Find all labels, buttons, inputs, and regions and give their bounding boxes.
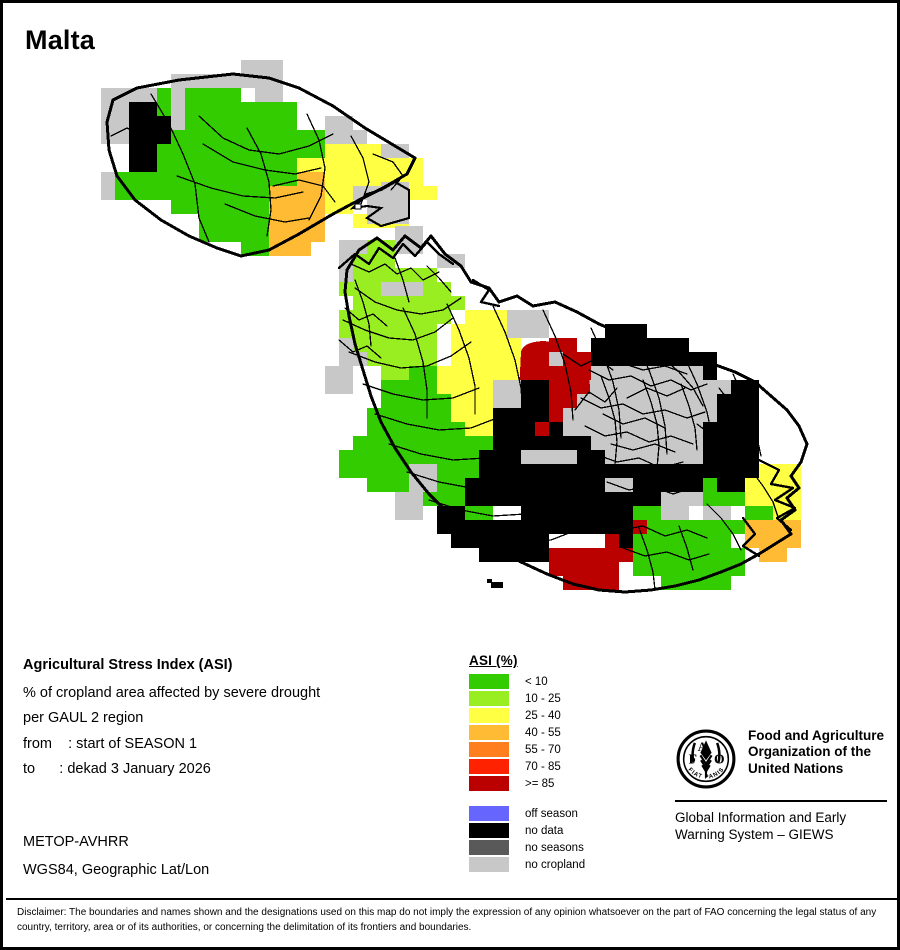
legend-label: 40 - 55: [525, 727, 561, 739]
legend-item-no-seasons[interactable]: no seasons: [469, 839, 585, 856]
legend-swatch: [469, 776, 509, 791]
map-description: Agricultural Stress Index (ASI) % of cro…: [23, 658, 320, 788]
legend-swatch: [469, 674, 509, 689]
data-source-block: METOP-AVHRR WGS84, Geographic Lat/Lon: [23, 835, 209, 890]
sensor-label: METOP-AVHRR: [23, 835, 209, 850]
legend-label: >= 85: [525, 778, 554, 790]
legend-item-10-25[interactable]: 10 - 25: [469, 690, 585, 707]
page-title: Malta: [25, 25, 95, 56]
legend-swatch: [469, 742, 509, 757]
disclaimer-divider: [6, 898, 900, 900]
legend-swatch: [469, 806, 509, 821]
fao-organization-name: Food and Agriculture Organization of the…: [748, 728, 884, 777]
legend-label: no data: [525, 825, 563, 837]
legend-swatch: [469, 857, 509, 872]
legend-item-no-cropland[interactable]: no cropland: [469, 856, 585, 873]
legend-label: 10 - 25: [525, 693, 561, 705]
legend-item-no-data[interactable]: no data: [469, 822, 585, 839]
fao-name-line2: Organization of the: [748, 744, 884, 760]
asi-choropleth-map[interactable]: [3, 58, 897, 638]
legend-item-off-season[interactable]: off season: [469, 805, 585, 822]
asi-heading: Agricultural Stress Index (ASI): [23, 658, 320, 673]
fao-logo-icon: F A O FIAT PANIS: [675, 728, 737, 790]
legend-item-gte85[interactable]: >= 85: [469, 775, 585, 792]
period-from: from : start of SEASON 1: [23, 737, 320, 752]
svg-text:O: O: [714, 751, 725, 766]
legend-item-70-85[interactable]: 70 - 85: [469, 758, 585, 775]
projection-label: WGS84, Geographic Lat/Lon: [23, 863, 209, 878]
legend-swatch: [469, 840, 509, 855]
legend-item-40-55[interactable]: 40 - 55: [469, 724, 585, 741]
legend-label: 55 - 70: [525, 744, 561, 756]
period-to: to : dekad 3 January 2026: [23, 762, 320, 777]
legend-swatch: [469, 759, 509, 774]
fao-branding: F A O FIAT PANIS Food and Agriculture Or…: [675, 728, 887, 844]
legend-swatch: [469, 823, 509, 838]
legend-title: ASI (%): [469, 653, 585, 668]
giews-line2: Warning System – GIEWS: [675, 827, 887, 844]
legend-item-25-40[interactable]: 25 - 40: [469, 707, 585, 724]
legend-swatch: [469, 708, 509, 723]
giews-line1: Global Information and Early: [675, 810, 887, 827]
map-legend: ASI (%) < 10 10 - 25 25 - 40 40 - 55 55 …: [469, 653, 585, 873]
disclaimer-text: Disclaimer: The boundaries and names sho…: [17, 906, 889, 935]
fao-divider: [675, 800, 887, 802]
svg-text:F: F: [689, 751, 697, 766]
legend-label: no cropland: [525, 859, 585, 871]
map-canvas[interactable]: [3, 58, 897, 638]
legend-label: no seasons: [525, 842, 584, 854]
fao-name-line3: United Nations: [748, 761, 884, 777]
asi-subtitle: % of cropland area affected by severe dr…: [23, 686, 320, 701]
fao-name-line1: Food and Agriculture: [748, 728, 884, 744]
legend-label: < 10: [525, 676, 548, 688]
legend-swatch: [469, 691, 509, 706]
map-page: Malta: [0, 0, 900, 950]
legend-label: off season: [525, 808, 578, 820]
legend-label: 25 - 40: [525, 710, 561, 722]
legend-label: 70 - 85: [525, 761, 561, 773]
legend-item-lt10[interactable]: < 10: [469, 673, 585, 690]
svg-text:A: A: [698, 740, 707, 754]
asi-region-unit: per GAUL 2 region: [23, 711, 320, 726]
legend-swatch: [469, 725, 509, 740]
legend-item-55-70[interactable]: 55 - 70: [469, 741, 585, 758]
legend-separator: [469, 792, 585, 805]
giews-name: Global Information and Early Warning Sys…: [675, 810, 887, 844]
island-filfla: [487, 579, 503, 588]
